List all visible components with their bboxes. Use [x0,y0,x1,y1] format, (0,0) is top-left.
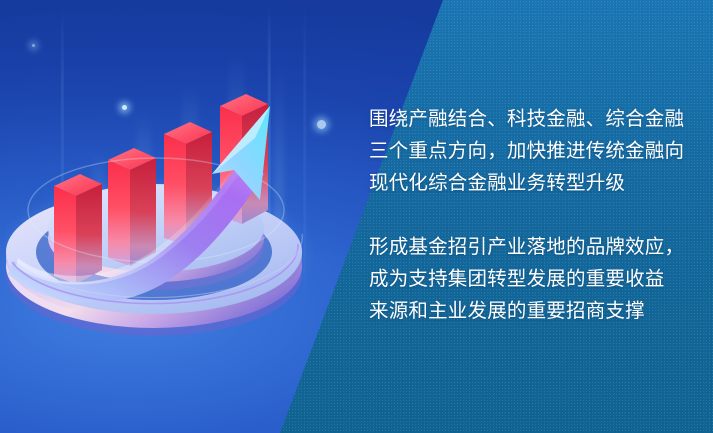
promo-banner: 围绕产融结合、科技金融、综合金融 三个重点方向，加快推进传统金融向 现代化综合金… [0,0,713,433]
sparkle-dot-3 [32,44,35,47]
sparkle-dot-2 [317,120,326,129]
text-block: 围绕产融结合、科技金融、综合金融 三个重点方向，加快推进传统金融向 现代化综合金… [369,103,689,327]
paragraph-two: 形成基金招引产业落地的品牌效应， 成为支持集团转型发展的重要收益 来源和主业发展… [369,231,689,327]
bar-1 [54,174,102,284]
paragraph-one: 围绕产融结合、科技金融、综合金融 三个重点方向，加快推进传统金融向 现代化综合金… [369,103,689,199]
bar-2 [108,148,156,266]
growth-chart-illustration [6,78,316,338]
